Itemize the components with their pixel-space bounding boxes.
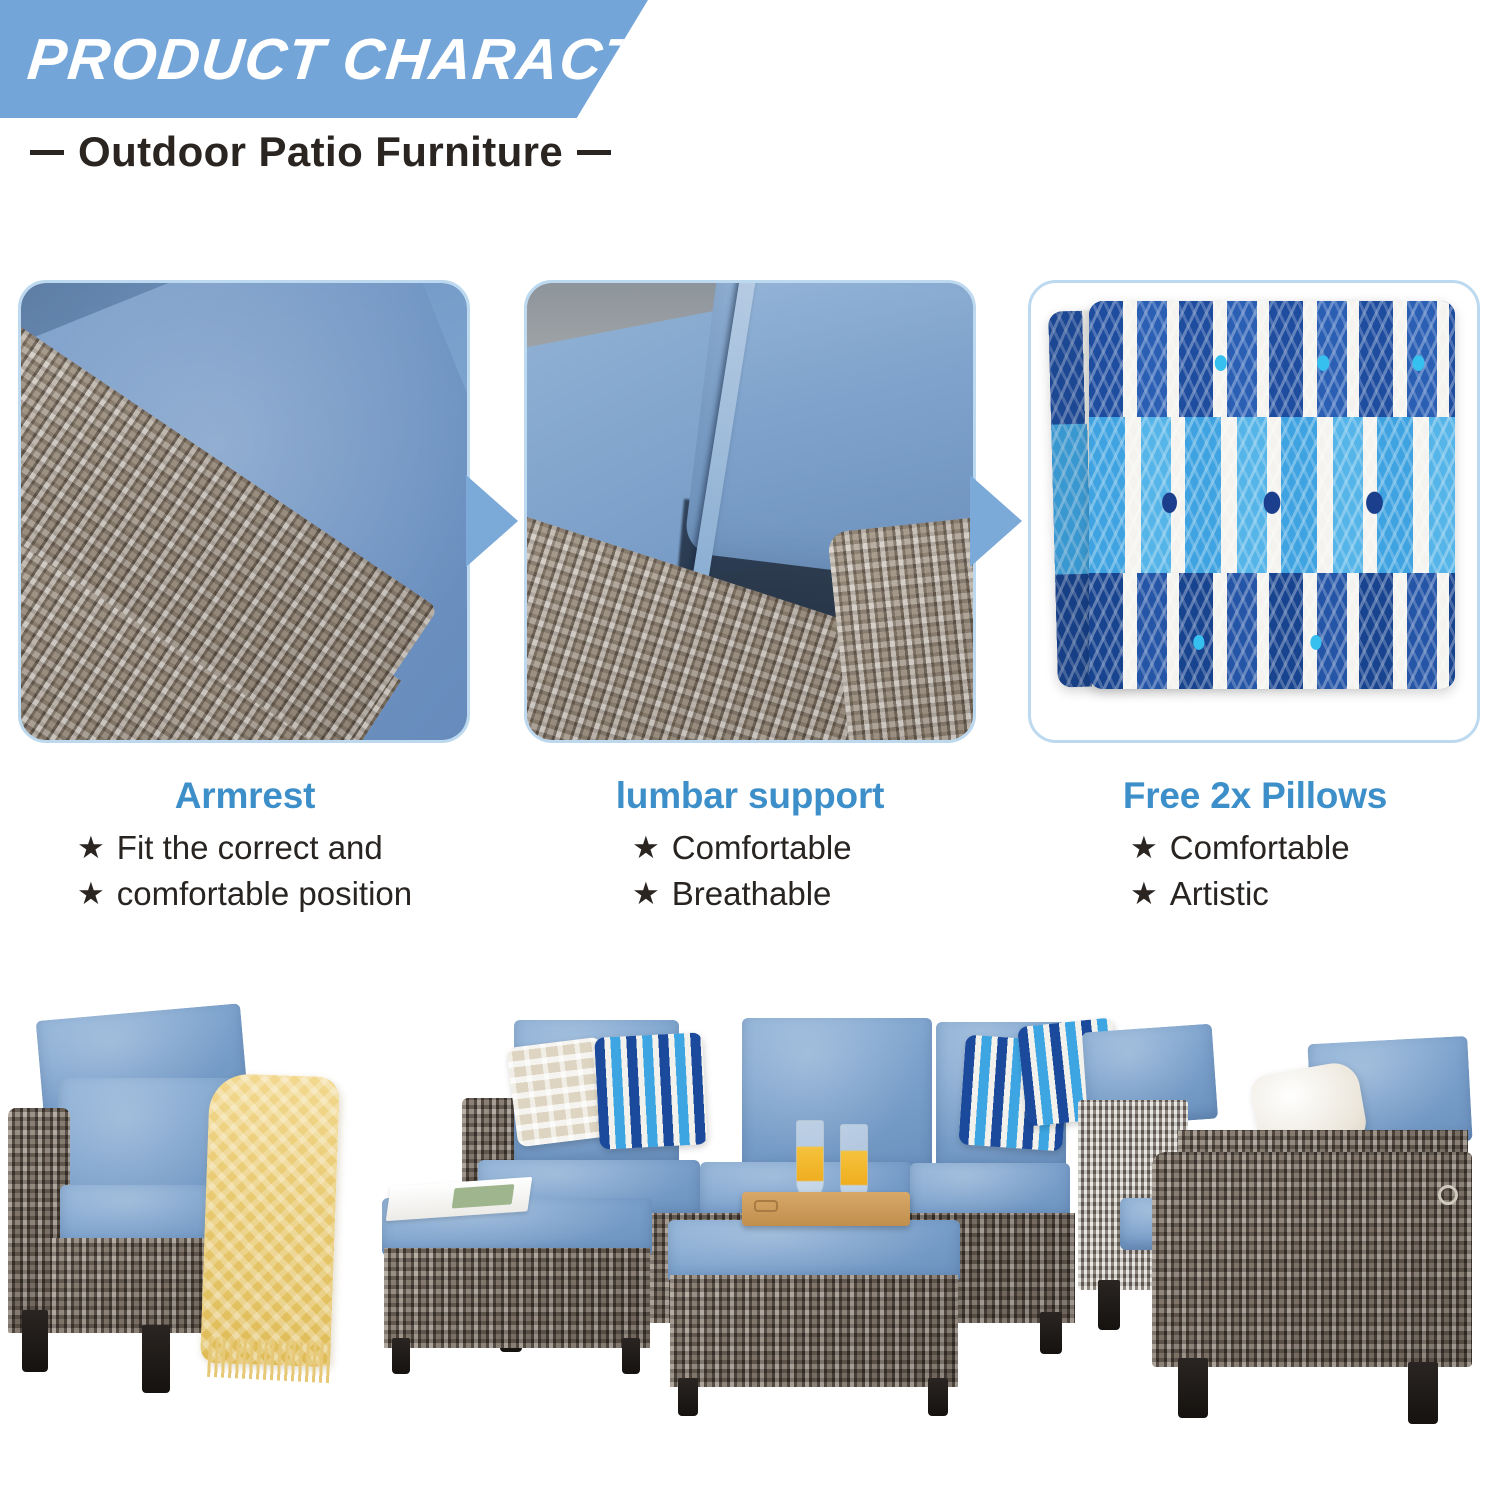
right-armchair-front-arm xyxy=(1152,1152,1472,1367)
feature-image-free-pillows xyxy=(1031,283,1477,740)
pillow-front-shape xyxy=(1089,301,1455,689)
caption-bullet-list: ★ Comfortable ★ Breathable xyxy=(520,825,980,916)
feature-image-lumbar-support xyxy=(527,283,973,740)
left-armchair-leg xyxy=(22,1310,48,1372)
hero-product-scene xyxy=(0,980,1500,1500)
caption-title: Free 2x Pillows xyxy=(1025,775,1485,817)
ottoman-right-leg xyxy=(928,1378,948,1416)
list-item: ★ Comfortable xyxy=(1025,825,1485,871)
list-item: ★ comfortable position xyxy=(15,871,475,917)
caption-bullet-list: ★ Fit the correct and ★ comfortable posi… xyxy=(15,825,475,916)
list-item: ★ Fit the correct and xyxy=(15,825,475,871)
lumbar-right-weave xyxy=(827,500,973,740)
ottoman-right-cushion xyxy=(668,1220,960,1282)
list-item-label: Breathable xyxy=(672,871,832,917)
right-armchair-leg xyxy=(1178,1358,1208,1418)
caption-bullet-list: ★ Comfortable ★ Artistic xyxy=(1025,825,1485,916)
list-item: ★ Comfortable xyxy=(520,825,980,871)
yellow-knit-throw xyxy=(200,1073,340,1367)
arrow-right-icon xyxy=(970,475,1022,567)
star-icon: ★ xyxy=(632,878,660,909)
mid-armchair-leg xyxy=(1098,1280,1120,1330)
caption-free-pillows: Free 2x Pillows ★ Comfortable ★ Artistic xyxy=(1025,775,1485,916)
feature-card-lumbar-support xyxy=(524,280,976,743)
feature-cards-row xyxy=(0,280,1500,750)
feature-captions-row: Armrest ★ Fit the correct and ★ comforta… xyxy=(0,775,1500,955)
feature-card-free-pillows xyxy=(1028,280,1480,743)
feature-card-armrest xyxy=(18,280,470,743)
ikat-throw-pillow xyxy=(594,1032,708,1149)
wooden-serving-tray xyxy=(742,1192,910,1226)
star-icon: ★ xyxy=(1130,832,1158,863)
left-armchair-leg xyxy=(142,1325,170,1393)
sofa-leg xyxy=(1040,1312,1062,1354)
ottoman-right-leg xyxy=(678,1378,698,1416)
list-item-label: Fit the correct and xyxy=(117,825,383,871)
caption-armrest: Armrest ★ Fit the correct and ★ comforta… xyxy=(15,775,475,916)
grommet-icon xyxy=(1438,1185,1458,1205)
caption-title: Armrest xyxy=(15,775,475,817)
list-item: ★ Artistic xyxy=(1025,871,1485,917)
ikat-diamonds xyxy=(1089,301,1455,689)
throw-fringe xyxy=(207,1337,331,1383)
right-armchair-leg xyxy=(1408,1362,1438,1424)
arrow-right-icon xyxy=(466,475,518,567)
ikat-pattern xyxy=(1089,301,1455,689)
header-banner: PRODUCT CHARACTER xyxy=(0,0,648,118)
ottoman-left-base xyxy=(384,1248,650,1348)
star-icon: ★ xyxy=(632,832,660,863)
list-item-label: Comfortable xyxy=(1170,825,1350,871)
ottoman-right-base xyxy=(670,1275,958,1387)
list-item-label: Comfortable xyxy=(672,825,852,871)
star-icon: ★ xyxy=(77,878,105,909)
juice-glass xyxy=(796,1120,824,1200)
caption-lumbar-support: lumbar support ★ Comfortable ★ Breathabl… xyxy=(520,775,980,916)
list-item: ★ Breathable xyxy=(520,871,980,917)
feature-image-armrest xyxy=(21,283,467,740)
dash-right-icon xyxy=(577,150,611,155)
page-subtitle-text: Outdoor Patio Furniture xyxy=(78,128,563,176)
list-item-label: comfortable position xyxy=(117,871,412,917)
dash-left-icon xyxy=(30,150,64,155)
page-subtitle: Outdoor Patio Furniture xyxy=(30,128,611,176)
page-title: PRODUCT CHARACTER xyxy=(24,26,727,93)
ottoman-left-leg xyxy=(392,1338,410,1374)
sofa-back-cushion xyxy=(742,1018,932,1170)
lumbar-photo xyxy=(527,283,973,740)
pillows-photo xyxy=(1031,283,1477,740)
ottoman-left-leg xyxy=(622,1338,640,1374)
star-icon: ★ xyxy=(77,832,105,863)
caption-title: lumbar support xyxy=(520,775,980,817)
list-item-label: Artistic xyxy=(1170,871,1269,917)
armrest-photo xyxy=(21,283,467,740)
star-icon: ★ xyxy=(1130,878,1158,909)
